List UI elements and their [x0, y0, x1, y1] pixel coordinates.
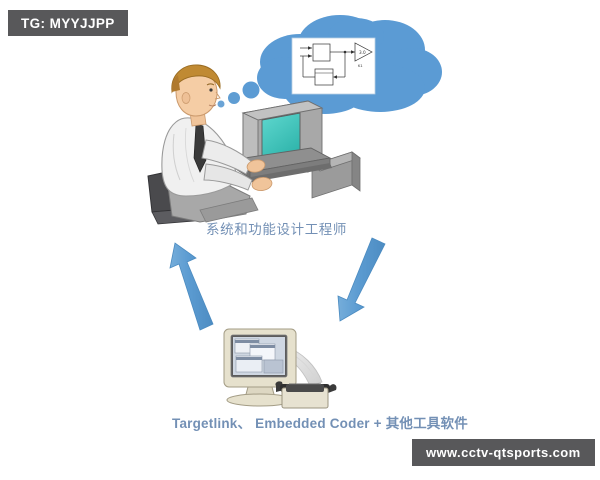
watermark-top-left: TG: MYYJJPP	[8, 10, 128, 36]
arrow-up-left	[170, 243, 213, 330]
watermark-bottom-right: www.cctv-qtsports.com	[412, 439, 595, 466]
embedded-target-device	[275, 381, 336, 408]
tool-workstation	[224, 329, 336, 408]
thought-cloud: 3.0 K1	[218, 15, 443, 114]
thought-bubbles	[218, 82, 260, 108]
svg-text:K1: K1	[358, 64, 363, 68]
svg-text:3.0: 3.0	[359, 50, 366, 55]
block-diagram-panel: 3.0 K1	[292, 38, 375, 94]
arrow-down-right	[338, 238, 385, 321]
engineer-head	[172, 65, 220, 126]
caption-tools: Targetlink、 Embedded Coder + 其他工具软件	[172, 412, 468, 432]
diagram-canvas: 3.0 K1	[0, 0, 600, 480]
caption-engineer: 系统和功能设计工程师	[206, 218, 347, 238]
workflow-illustration: 3.0 K1	[0, 0, 600, 480]
